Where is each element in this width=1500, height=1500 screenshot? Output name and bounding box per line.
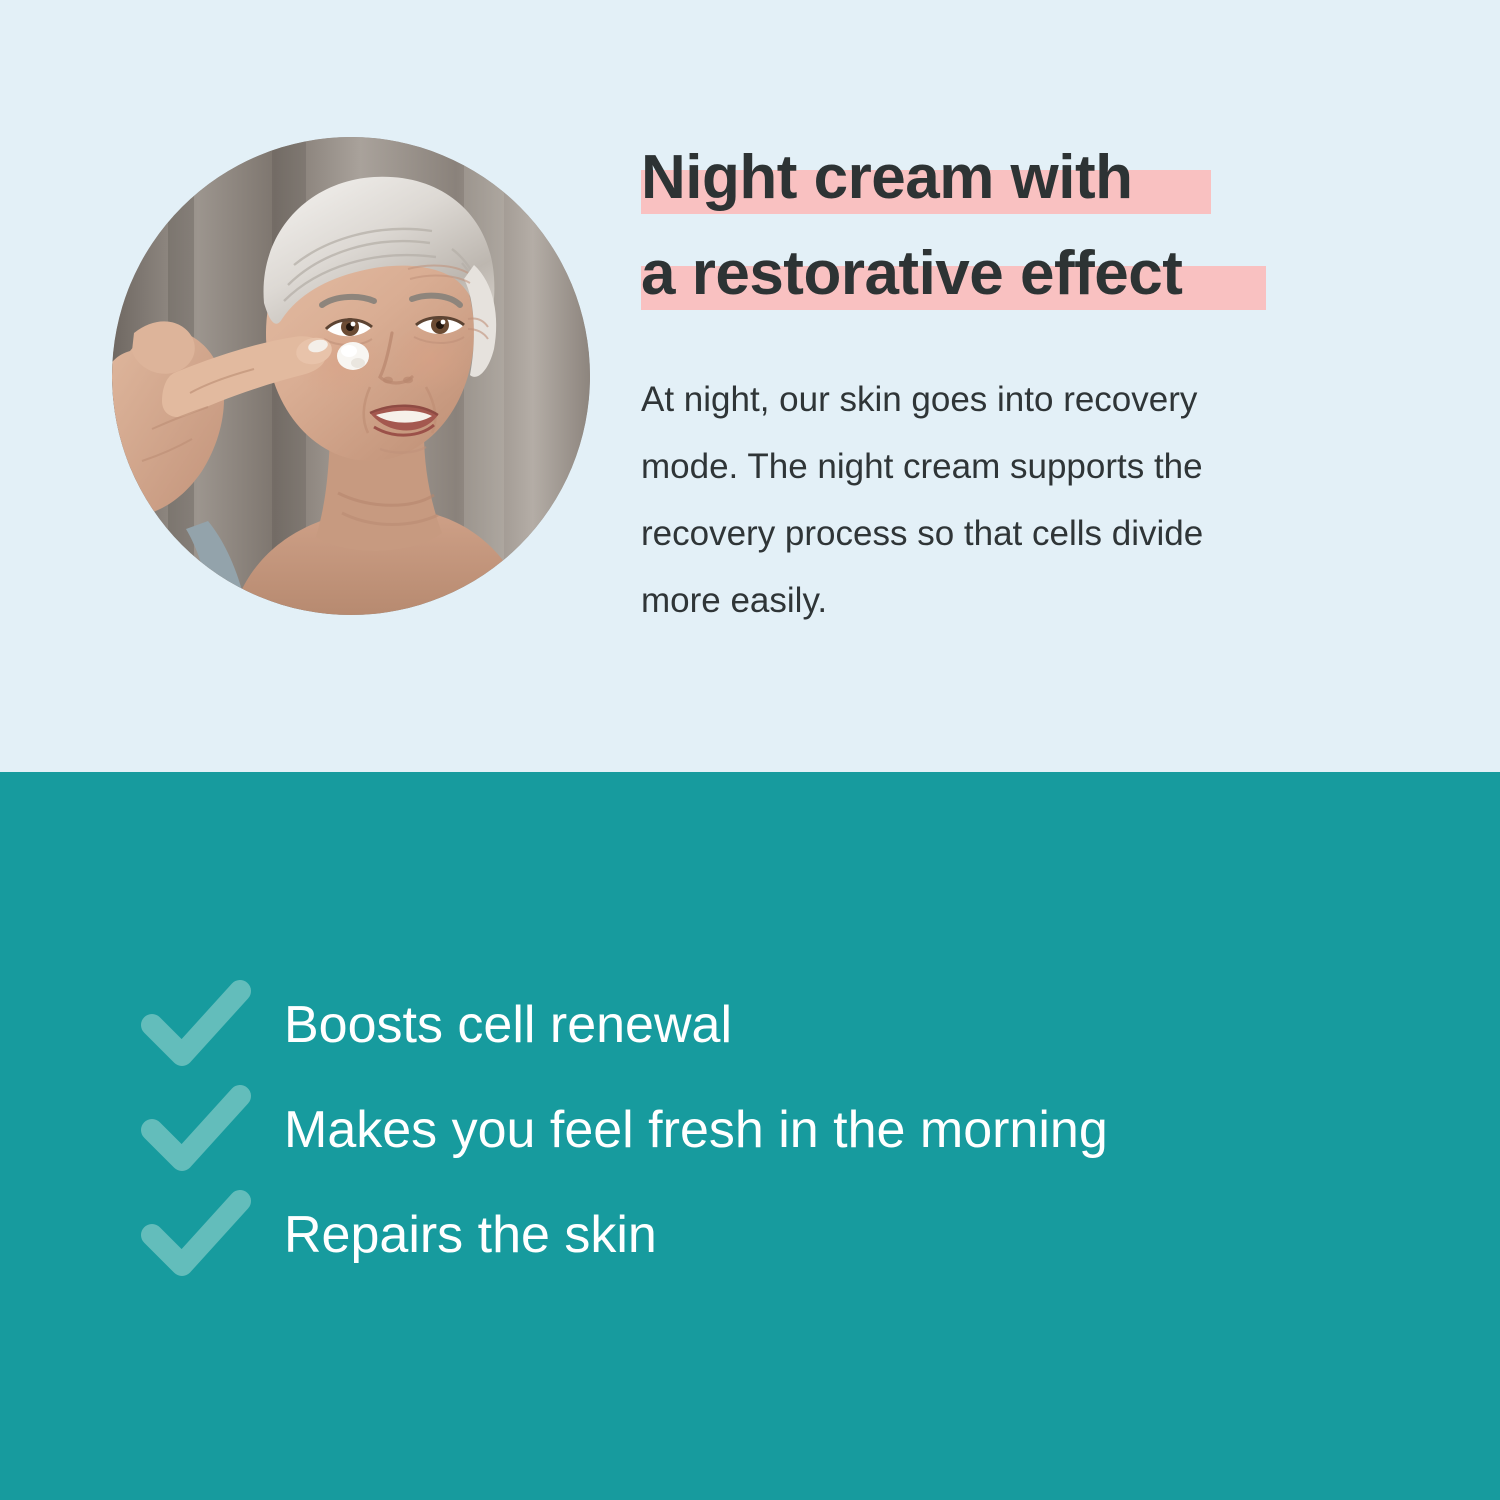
headline-line-2-text: a restorative effect (641, 239, 1182, 308)
check-icon (140, 979, 252, 1071)
benefit-label: Boosts cell renewal (284, 999, 732, 1051)
description-line-4: more easily. (641, 567, 1371, 634)
description-line-3: recovery process so that cells divide (641, 500, 1371, 567)
check-icon (140, 1084, 252, 1176)
headline-line-1: Night cream with (641, 130, 1371, 226)
benefits-section: Boosts cell renewal Makes you feel fresh… (0, 772, 1500, 1500)
intro-copy: Night cream with a restorative effect At… (641, 130, 1371, 634)
description-line-2: mode. The night cream supports the (641, 433, 1371, 500)
benefits-list: Boosts cell renewal Makes you feel fresh… (140, 972, 1420, 1287)
intro-section: Night cream with a restorative effect At… (0, 0, 1500, 772)
headline-line-2: a restorative effect (641, 226, 1371, 322)
list-item: Boosts cell renewal (140, 972, 1420, 1077)
intro-description: At night, our skin goes into recovery mo… (641, 366, 1371, 634)
headline-line-1-text: Night cream with (641, 143, 1133, 212)
check-icon (140, 1189, 252, 1281)
benefit-label: Makes you feel fresh in the morning (284, 1104, 1108, 1156)
description-line-1: At night, our skin goes into recovery (641, 366, 1371, 433)
list-item: Repairs the skin (140, 1182, 1420, 1287)
product-benefits-infographic: Night cream with a restorative effect At… (0, 0, 1500, 1500)
benefit-label: Repairs the skin (284, 1209, 657, 1261)
page-title: Night cream with a restorative effect (641, 130, 1371, 322)
list-item: Makes you feel fresh in the morning (140, 1077, 1420, 1182)
portrait-photo (112, 137, 590, 615)
